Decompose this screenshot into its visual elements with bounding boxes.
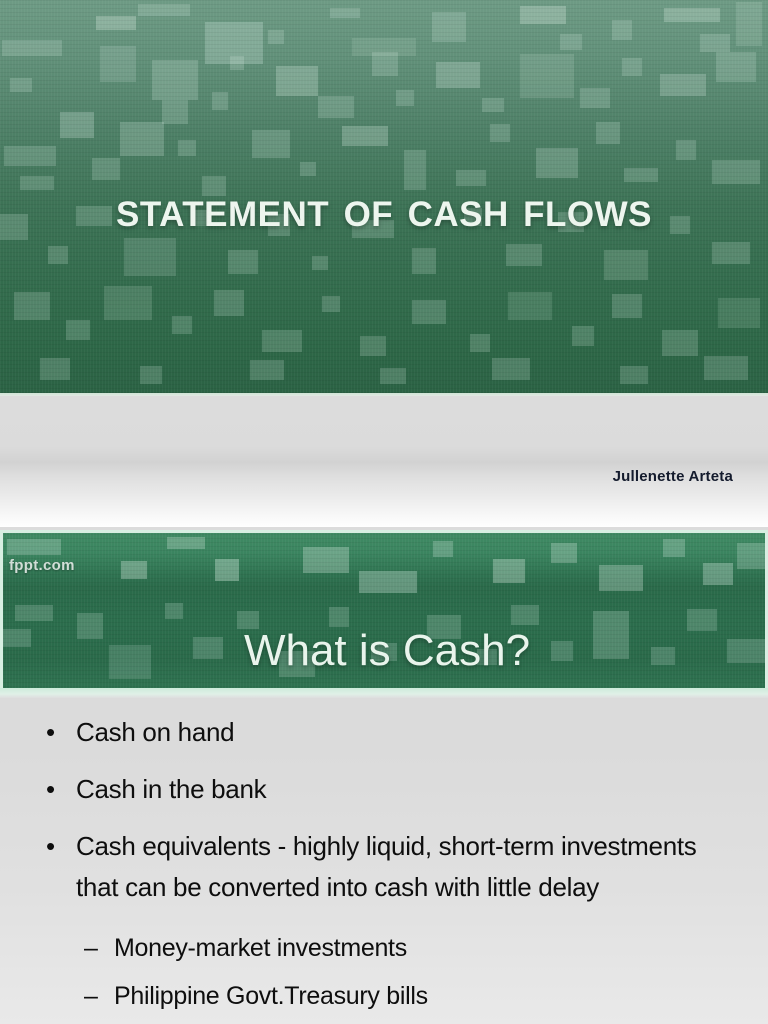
title-block: Statement of Cash Flows [0, 175, 768, 243]
title-slide-footer: Jullenette Arteta [0, 393, 768, 527]
bullet-glyph-icon: • [46, 712, 68, 753]
dash-glyph-icon: – [84, 972, 108, 1020]
sub-list-container: – Money-market investments – Philippine … [0, 924, 768, 1020]
bullet-glyph-icon: • [46, 769, 68, 810]
slide-heading: What is Cash? [3, 626, 768, 676]
content-sub-bullet-list: – Money-market investments – Philippine … [0, 924, 768, 1020]
dash-glyph-icon: – [84, 924, 108, 972]
content-bullet-list: • Cash on hand • Cash in the bank • Cash… [0, 712, 768, 1020]
title-slide-background: Statement of Cash Flows [0, 0, 768, 393]
sub-list-item-text: Money-market investments [114, 934, 407, 962]
list-item: • Cash equivalents - highly liquid, shor… [0, 826, 768, 908]
sub-list-item: – Philippine Govt.Treasury bills [0, 972, 768, 1020]
page-title: Statement of Cash Flows [0, 175, 768, 243]
list-item: • Cash in the bank [0, 769, 768, 810]
content-slide-header-band: fppt.com What is Cash? [0, 530, 768, 691]
list-item: • Cash on hand [0, 712, 768, 753]
sub-list-item-text: Philippine Govt.Treasury bills [114, 982, 428, 1010]
fppt-watermark: fppt.com [9, 557, 75, 574]
list-item-text: Cash in the bank [76, 774, 266, 804]
list-item-text: Cash on hand [76, 717, 234, 747]
author-name: Jullenette Arteta [613, 468, 733, 485]
list-item-text: Cash equivalents - highly liquid, short-… [76, 831, 696, 902]
header-band-underline [0, 688, 768, 698]
slide-what-is-cash: fppt.com What is Cash? • Cash on hand • … [0, 527, 768, 1024]
slide-title: Statement of Cash Flows Jullenette Artet… [0, 0, 768, 527]
bullet-glyph-icon: • [46, 826, 68, 867]
slide-deck: Statement of Cash Flows Jullenette Artet… [0, 0, 768, 1024]
sub-list-item: – Money-market investments [0, 924, 768, 972]
